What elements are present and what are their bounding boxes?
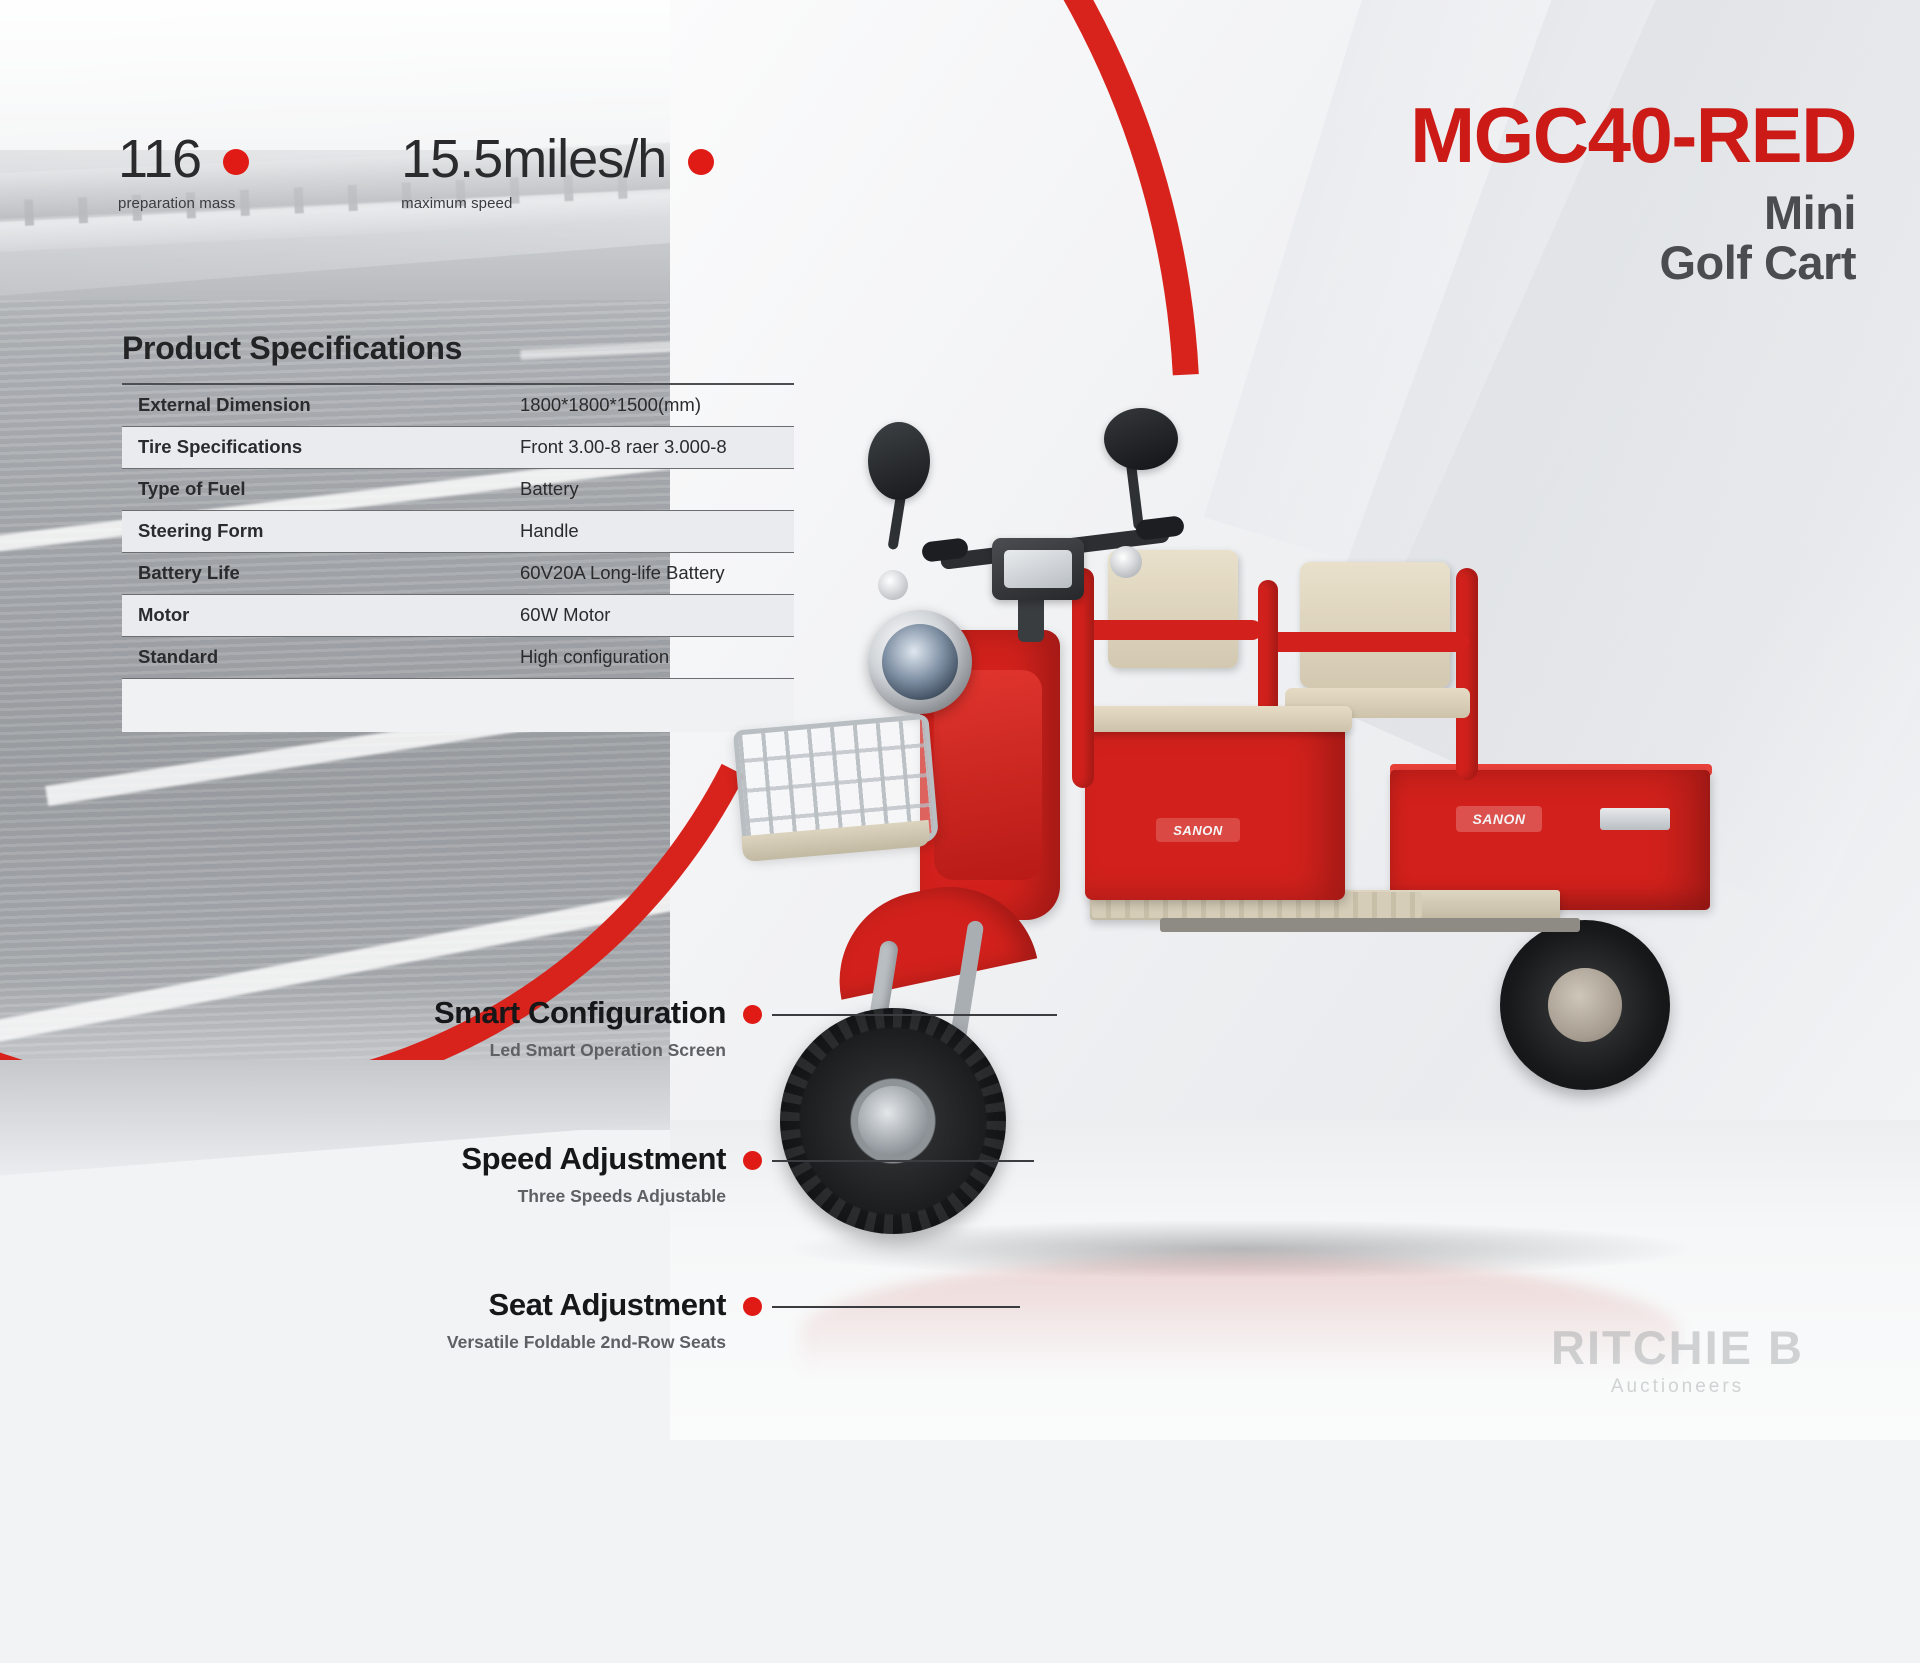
red-dot-icon (743, 1297, 762, 1316)
spec-value (504, 678, 794, 732)
stat-preparation-mass: 116 preparation mass (118, 132, 249, 212)
feature-smart-configuration: Smart Configuration Led Smart Operation … (150, 995, 790, 1061)
table-row: Motor 60W Motor (122, 594, 794, 636)
turn-signal-left (878, 570, 908, 600)
headlight-lens (882, 624, 958, 700)
seat-cushion-front (1078, 706, 1352, 732)
red-dot-icon (743, 1151, 762, 1170)
stat-caption: preparation mass (118, 195, 249, 212)
front-wheel-hub (858, 1086, 928, 1156)
turn-signal-right (1110, 546, 1142, 578)
table-row: Type of Fuel Battery (122, 468, 794, 510)
red-dot-icon (688, 149, 714, 175)
product-line-name: Mini Golf Cart (1410, 188, 1856, 289)
model-name: MGC40-RED (1410, 96, 1856, 174)
callout-leader-line (772, 1306, 1020, 1308)
table-row: Battery Life 60V20A Long-life Battery (122, 552, 794, 594)
spec-value: Battery (504, 468, 794, 510)
mirror-left (868, 422, 930, 500)
under-seat-storage-box (1085, 720, 1345, 900)
chassis-frame (1160, 918, 1580, 932)
spec-key: Type of Fuel (122, 468, 504, 510)
spec-value: Handle (504, 510, 794, 552)
spec-key: Standard (122, 636, 504, 678)
feature-seat-adjustment: Seat Adjustment Versatile Foldable 2nd-R… (150, 1287, 790, 1353)
seat-grab-rail (1072, 568, 1094, 788)
seat-armrest (1264, 632, 1469, 652)
callout-leader-line (772, 1014, 1057, 1016)
spec-key: External Dimension (122, 384, 504, 426)
spec-key (122, 678, 504, 732)
table-row: Standard High configuration (122, 636, 794, 678)
mirror-right (1104, 408, 1178, 470)
spec-value: 60W Motor (504, 594, 794, 636)
spec-value: 1800*1800*1500(mm) (504, 384, 794, 426)
spec-key: Battery Life (122, 552, 504, 594)
feature-subtitle: Versatile Foldable 2nd-Row Seats (150, 1332, 726, 1353)
feature-speed-adjustment: Speed Adjustment Three Speeds Adjustable (150, 1141, 790, 1207)
stat-value: 116 (118, 132, 201, 186)
seat-armrest (1072, 620, 1262, 640)
red-dot-icon (743, 1005, 762, 1024)
floor-reflection (800, 1258, 1680, 1408)
feature-title: Smart Configuration (150, 995, 726, 1031)
table-row-empty (122, 678, 794, 732)
stat-maximum-speed: 15.5miles/h maximum speed (401, 132, 714, 212)
second-row-seat-back (1300, 562, 1450, 688)
spec-key: Tire Specifications (122, 426, 504, 468)
table-row: Steering Form Handle (122, 510, 794, 552)
specifications-table: External Dimension 1800*1800*1500(mm) Ti… (122, 383, 794, 732)
spec-value: 60V20A Long-life Battery (504, 552, 794, 594)
product-title-block: MGC40-RED Mini Golf Cart (1410, 96, 1856, 289)
rear-wheel-hub (1548, 968, 1622, 1042)
feature-callouts: Smart Configuration Led Smart Operation … (150, 995, 790, 1433)
product-specifications-section: Product Specifications External Dimensio… (122, 330, 794, 732)
key-stats: 116 preparation mass 15.5miles/h maximum… (118, 132, 714, 212)
cargo-bed (1390, 770, 1710, 910)
callout-leader-line (772, 1160, 1034, 1162)
feature-subtitle: Led Smart Operation Screen (150, 1040, 726, 1061)
spec-value: Front 3.00-8 raer 3.000-8 (504, 426, 794, 468)
spec-key: Steering Form (122, 510, 504, 552)
red-dot-icon (223, 149, 249, 175)
spec-value: High configuration (504, 636, 794, 678)
table-row: External Dimension 1800*1800*1500(mm) (122, 384, 794, 426)
feature-title: Seat Adjustment (150, 1287, 726, 1323)
stat-value: 15.5miles/h (401, 132, 666, 186)
led-operation-screen (1004, 550, 1072, 588)
table-row: Tire Specifications Front 3.00-8 raer 3.… (122, 426, 794, 468)
brand-badge-rear: SANON (1456, 806, 1542, 832)
product-line-1: Mini (1410, 188, 1856, 238)
spec-section-title: Product Specifications (122, 330, 794, 367)
license-plate (1600, 808, 1670, 830)
feature-title: Speed Adjustment (150, 1141, 726, 1177)
product-line-2: Golf Cart (1410, 238, 1856, 288)
spec-key: Motor (122, 594, 504, 636)
brand-badge-side: SANON (1156, 818, 1240, 842)
seat-grab-rail (1456, 568, 1478, 780)
golf-cart-product-image: SANON SANON (860, 420, 1790, 1250)
feature-subtitle: Three Speeds Adjustable (150, 1186, 726, 1207)
stat-caption: maximum speed (401, 195, 714, 212)
